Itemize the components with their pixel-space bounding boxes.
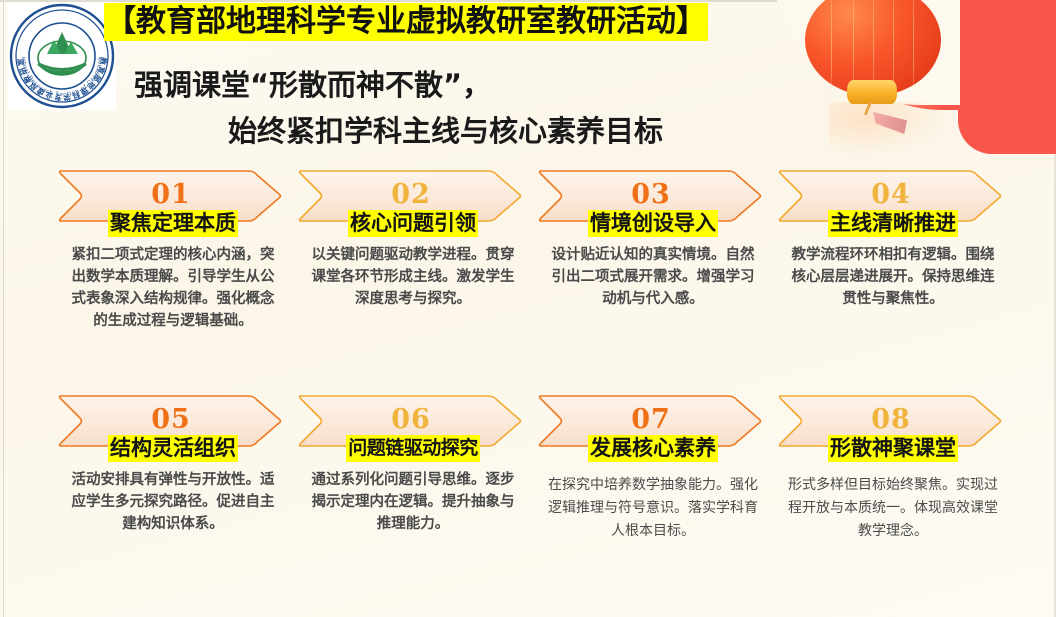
card-title-row: 主线清晰推进 — [778, 210, 1008, 237]
card-number: 08 — [871, 406, 911, 433]
card-body-text: 活动安排具有弹性与开放性。适应学生多元探究路径。促进自主建构知识体系。 — [58, 469, 288, 535]
point-card[interactable]: 07发展核心素养在探究中培养数学抽象能力。强化逻辑推理与符号意识。落实学科育人根… — [538, 393, 768, 608]
points-grid: 01聚焦定理本质紧扣二项式定理的核心内涵，突出数学本质理解。引导学生从公式表象深… — [58, 168, 1018, 608]
card-title-row: 形散神聚课堂 — [778, 435, 1008, 462]
card-number: 03 — [631, 181, 671, 208]
subtitle-line-2: 始终紧扣学科主线与核心素养目标 — [120, 108, 910, 154]
card-body-text: 以关键问题驱动教学进程。贯穿课堂各环节形成主线。激发学生深度思考与探究。 — [298, 244, 528, 310]
card-number: 04 — [871, 181, 911, 208]
point-card[interactable]: 02核心问题引领以关键问题驱动教学进程。贯穿课堂各环节形成主线。激发学生深度思考… — [298, 168, 528, 383]
organization-logo: 教育部地理科学专业虚拟教研室 Virtual Research Section … — [8, 2, 116, 110]
card-number: 06 — [391, 406, 431, 433]
slide-canvas: 教育部地理科学专业虚拟教研室 Virtual Research Section … — [0, 0, 1056, 617]
slide-title-container: 【教育部地理科学专业虚拟教研室教研活动】 — [104, 2, 708, 42]
card-number: 01 — [151, 181, 191, 208]
card-body-text: 通过系列化问题引导思维。逐步揭示定理内在逻辑。提升抽象与推理能力。 — [298, 469, 528, 535]
slide-subtitle: 强调课堂“形散而神不散”， 始终紧扣学科主线与核心素养目标 — [120, 62, 910, 154]
card-title-row: 情境创设导入 — [538, 210, 768, 237]
card-number: 07 — [631, 406, 671, 433]
card-title: 核心问题引领 — [348, 210, 478, 237]
card-body-text: 设计贴近认知的真实情境。自然引出二项式展开需求。增强学习动机与代入感。 — [538, 244, 768, 310]
logo-seal-icon: 教育部地理科学专业虚拟教研室 Virtual Research Section … — [8, 2, 116, 110]
point-card[interactable]: 05结构灵活组织活动安排具有弹性与开放性。适应学生多元探究路径。促进自主建构知识… — [58, 393, 288, 608]
card-title: 情境创设导入 — [588, 210, 718, 237]
point-card[interactable]: 03情境创设导入设计贴近认知的真实情境。自然引出二项式展开需求。增强学习动机与代… — [538, 168, 768, 383]
card-title: 问题链驱动探究 — [346, 435, 480, 462]
card-body-text: 教学流程环环相扣有逻辑。围绕核心层层递进展开。保持思维连贯性与聚焦性。 — [778, 244, 1008, 310]
card-title-row: 核心问题引领 — [298, 210, 528, 237]
corner-red-panel — [958, 0, 1056, 154]
point-card[interactable]: 06问题链驱动探究通过系列化问题引导思维。逐步揭示定理内在逻辑。提升抽象与推理能… — [298, 393, 528, 608]
card-title-row: 结构灵活组织 — [58, 435, 288, 462]
card-body-text: 紧扣二项式定理的核心内涵，突出数学本质理解。引导学生从公式表象深入结构规律。强化… — [58, 244, 288, 332]
card-title: 形散神聚课堂 — [828, 435, 958, 462]
point-card[interactable]: 01聚焦定理本质紧扣二项式定理的核心内涵，突出数学本质理解。引导学生从公式表象深… — [58, 168, 288, 383]
card-title: 主线清晰推进 — [828, 210, 958, 237]
card-body-text: 形式多样但目标始终聚焦。实现过程开放与本质统一。体现高效课堂教学理念。 — [778, 474, 1008, 543]
page-title: 【教育部地理科学专业虚拟教研室教研活动】 — [104, 3, 708, 41]
point-card[interactable]: 04主线清晰推进教学流程环环相扣有逻辑。围绕核心层层递进展开。保持思维连贯性与聚… — [778, 168, 1008, 383]
card-title-row: 问题链驱动探究 — [298, 435, 528, 462]
card-title: 结构灵活组织 — [108, 435, 238, 462]
slide-left-border — [3, 0, 4, 617]
card-number: 05 — [151, 406, 191, 433]
card-title: 发展核心素养 — [588, 435, 718, 462]
point-card[interactable]: 08形散神聚课堂形式多样但目标始终聚焦。实现过程开放与本质统一。体现高效课堂教学… — [778, 393, 1008, 608]
subtitle-line-1: 强调课堂“形散而神不散”， — [120, 62, 910, 108]
card-title-row: 聚焦定理本质 — [58, 210, 288, 237]
card-title-row: 发展核心素养 — [538, 435, 768, 462]
card-body-text: 在探究中培养数学抽象能力。强化逻辑推理与符号意识。落实学科育人根本目标。 — [538, 474, 768, 543]
card-number: 02 — [391, 181, 431, 208]
card-title: 聚焦定理本质 — [108, 210, 238, 237]
